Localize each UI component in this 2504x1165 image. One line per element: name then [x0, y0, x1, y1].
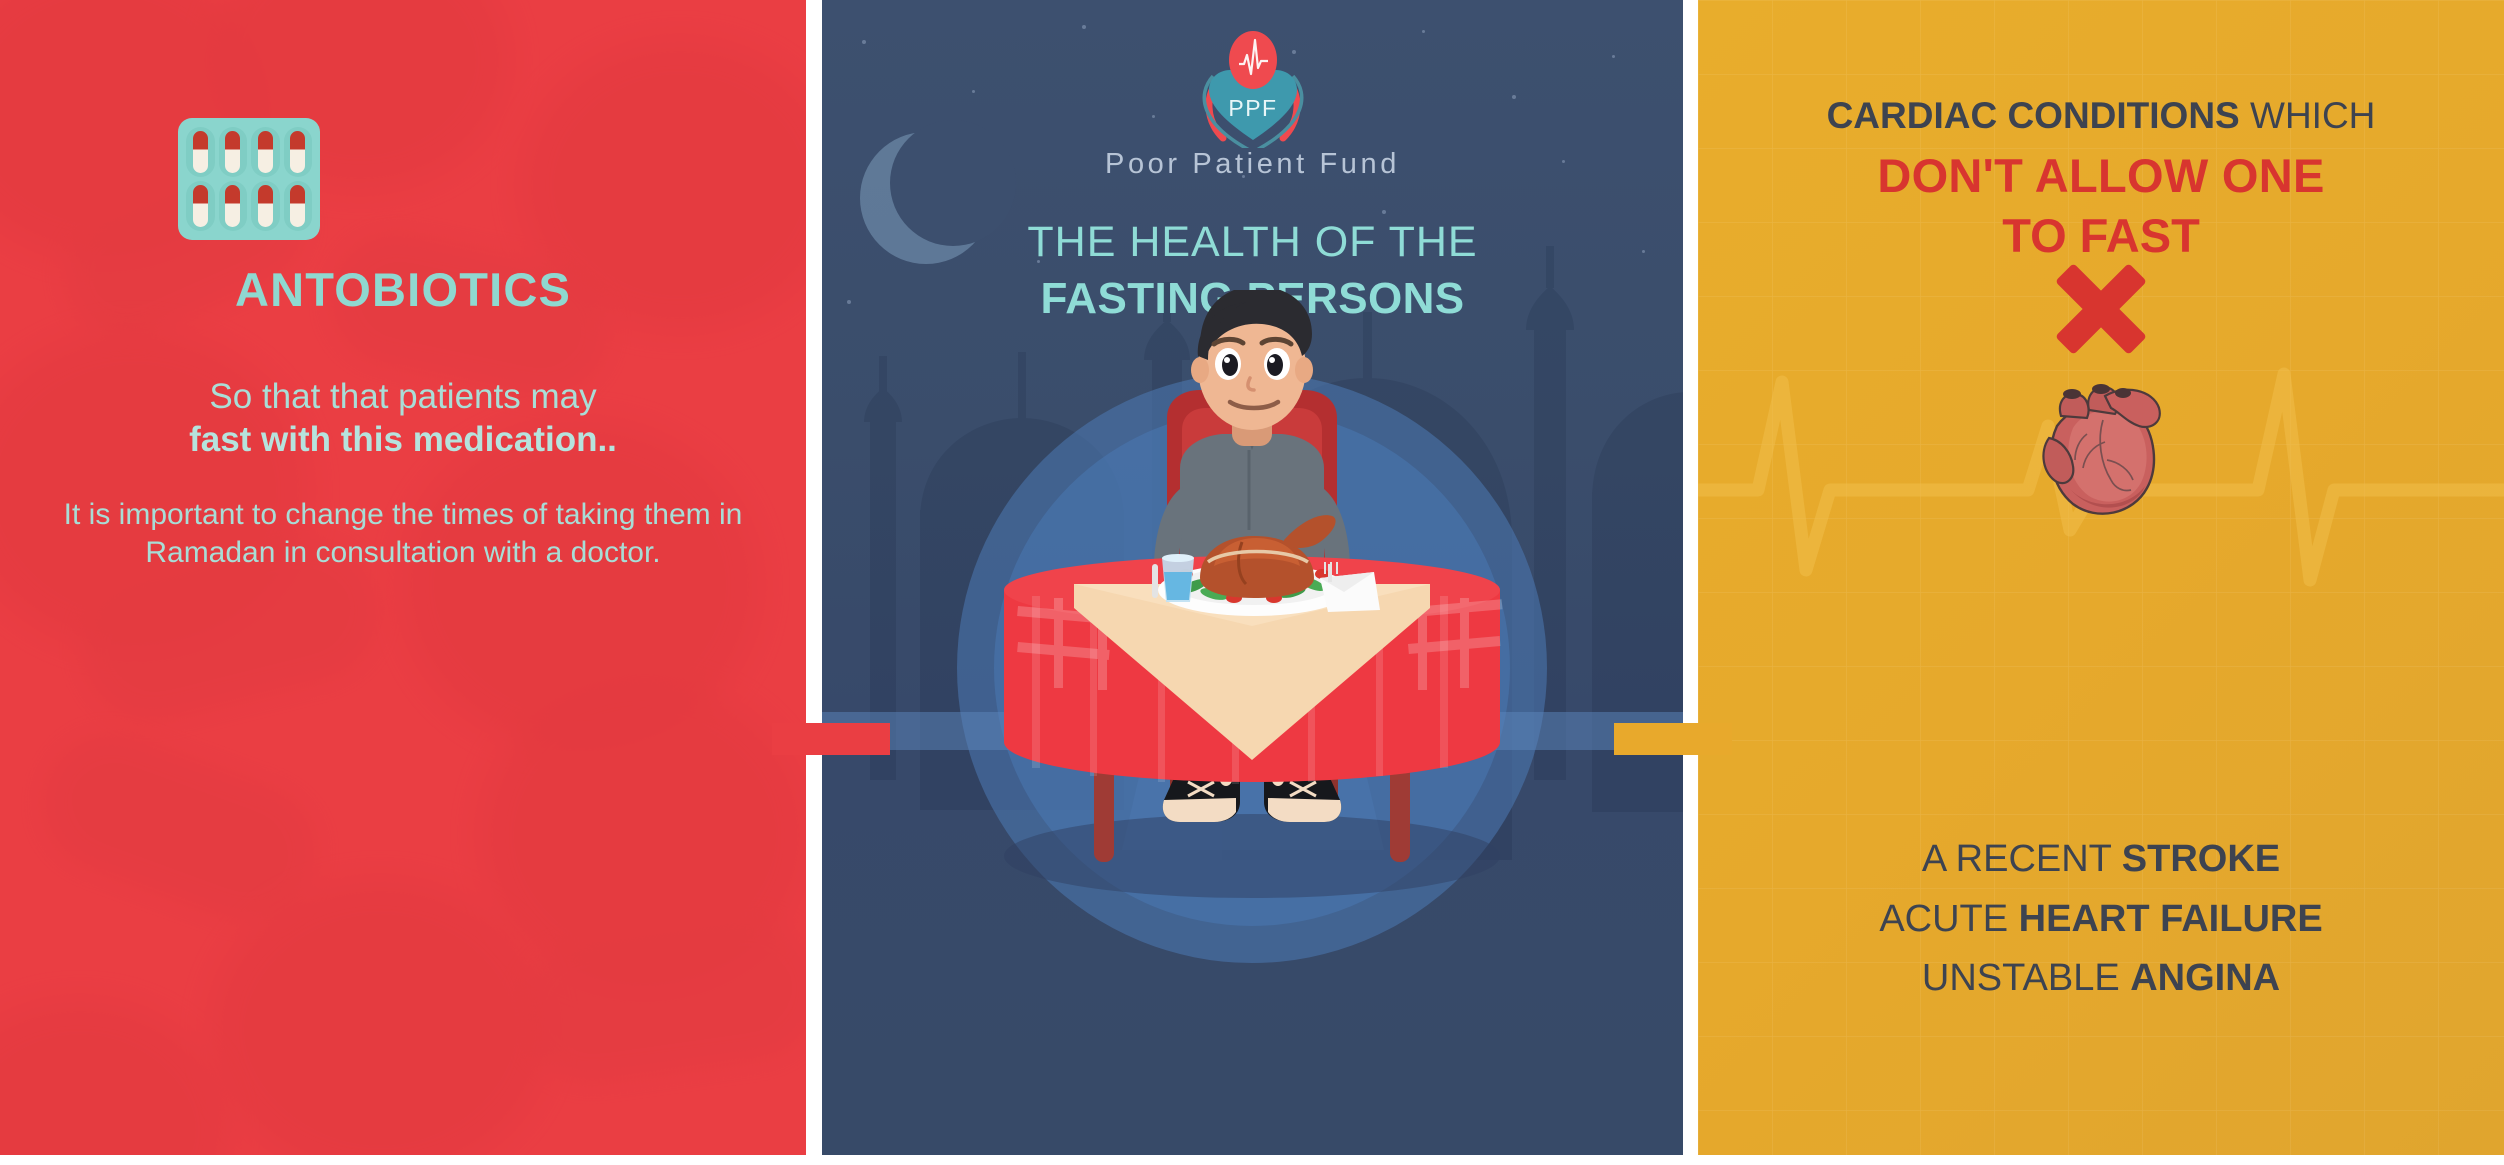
svg-text:PPF: PPF — [1228, 95, 1277, 121]
ppf-logo-icon: PPF — [822, 28, 1683, 148]
antibiotics-title: ANTOBIOTICS — [0, 262, 806, 317]
condition-light: UNSTABLE — [1922, 957, 2130, 999]
left-connector-tab — [772, 723, 890, 755]
anatomical-heart-icon — [1698, 368, 2504, 520]
cardiac-headline-line1: CARDIAC CONDITIONS WHICH — [1722, 95, 2480, 138]
center-headline-light: THE HEALTH OF THE — [822, 218, 1683, 267]
cardiac-headline: CARDIAC CONDITIONS WHICH DON'T ALLOW ONE… — [1722, 95, 2480, 263]
cardiac-headline-red-line2: TO FAST — [1722, 209, 2480, 263]
condition-item: UNSTABLE ANGINA — [1718, 954, 2484, 1003]
cardiac-headline-light: WHICH — [2240, 95, 2376, 136]
cardiac-headline-red-line1: DON'T ALLOW ONE — [1722, 149, 2480, 203]
condition-light: A RECENT — [1922, 838, 2122, 880]
antibiotics-lead: So that that patients may fast with this… — [30, 375, 776, 462]
antibiotics-lead-prefix: So that that patients may — [209, 377, 596, 416]
pill-blister-pack-icon — [178, 118, 320, 240]
fasting-persons-panel: PPF Poor Patient Fund THE HEALTH OF THE … — [822, 0, 1683, 1155]
condition-light: ACUTE — [1879, 898, 2018, 940]
cardiac-conditions-list: A RECENT STROKE ACUTE HEART FAILURE UNST… — [1718, 835, 2484, 1014]
infographic-canvas: ANTOBIOTICS So that that patients may fa… — [0, 0, 2504, 1165]
condition-bold: STROKE — [2122, 838, 2280, 880]
antibiotics-subtext: It is important to change the times of t… — [30, 496, 776, 573]
red-overlay — [0, 0, 806, 1155]
right-connector-tab — [1614, 723, 1732, 755]
cardiac-conditions-panel: CARDIAC CONDITIONS WHICH DON'T ALLOW ONE… — [1698, 0, 2504, 1155]
brand-name: Poor Patient Fund — [822, 148, 1683, 181]
condition-bold: ANGINA — [2130, 957, 2280, 999]
condition-item: A RECENT STROKE — [1718, 835, 2484, 884]
antibiotics-panel: ANTOBIOTICS So that that patients may fa… — [0, 0, 806, 1155]
red-x-mark-icon — [1698, 263, 2504, 353]
antibiotics-body: So that that patients may fast with this… — [30, 375, 776, 573]
boy-at-dinner-table-illustration — [822, 290, 1683, 1155]
antibiotics-lead-bold: fast with this medication.. — [189, 420, 617, 459]
cardiac-headline-bold: CARDIAC CONDITIONS — [1827, 95, 2240, 136]
condition-bold: HEART FAILURE — [2019, 898, 2323, 940]
condition-item: ACUTE HEART FAILURE — [1718, 895, 2484, 944]
